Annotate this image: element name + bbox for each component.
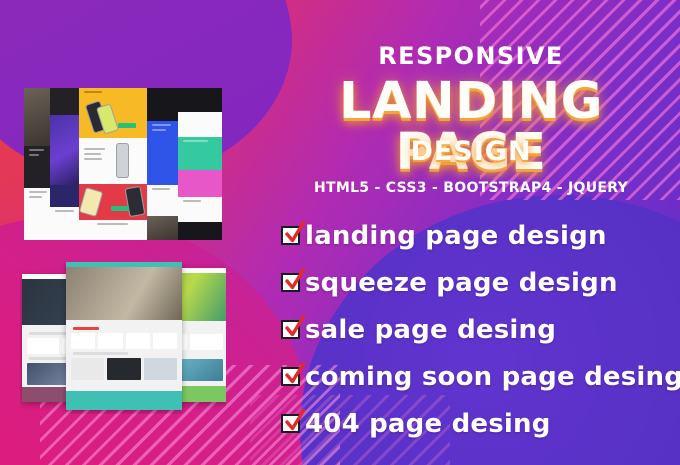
checkbox-checked-icon: [281, 273, 300, 292]
list-item-label: coming soon page desing: [305, 362, 680, 392]
list-item-label: landing page design: [305, 221, 607, 251]
poster-canvas: RESPONSIVE LANDING PAGE DESIGN HTML5 - C…: [0, 0, 680, 465]
list-item: coming soon page desing: [281, 353, 680, 400]
list-item: 404 page desing: [281, 400, 680, 447]
checkbox-checked-icon: [281, 320, 300, 339]
list-item-label: sale page desing: [305, 315, 556, 345]
feature-list: landing page design squeeze page design …: [281, 212, 680, 447]
checkbox-checked-icon: [281, 367, 300, 386]
checkbox-checked-icon: [281, 414, 300, 433]
text-content-column: RESPONSIVE LANDING PAGE DESIGN HTML5 - C…: [262, 0, 680, 465]
check-mark-icon: [284, 362, 306, 386]
website-mockup-collage: [20, 262, 226, 414]
list-item: squeeze page design: [281, 259, 680, 306]
tech-stack-line: HTML5 - CSS3 - BOOTSTRAP4 - JQUERY: [262, 180, 680, 196]
check-mark-icon: [284, 221, 306, 245]
list-item: landing page design: [281, 212, 680, 259]
list-item-label: squeeze page design: [305, 268, 618, 298]
mobile-mockup-collage: [24, 88, 222, 240]
check-mark-icon: [284, 268, 306, 292]
check-mark-icon: [284, 409, 306, 433]
check-mark-icon: [284, 315, 306, 339]
list-item: sale page desing: [281, 306, 680, 353]
checkbox-checked-icon: [281, 226, 300, 245]
list-item-label: 404 page desing: [305, 409, 551, 439]
website-mockup-card: [66, 262, 182, 410]
kicker-text: RESPONSIVE: [262, 42, 680, 70]
subtitle-text: DESIGN: [262, 136, 680, 167]
